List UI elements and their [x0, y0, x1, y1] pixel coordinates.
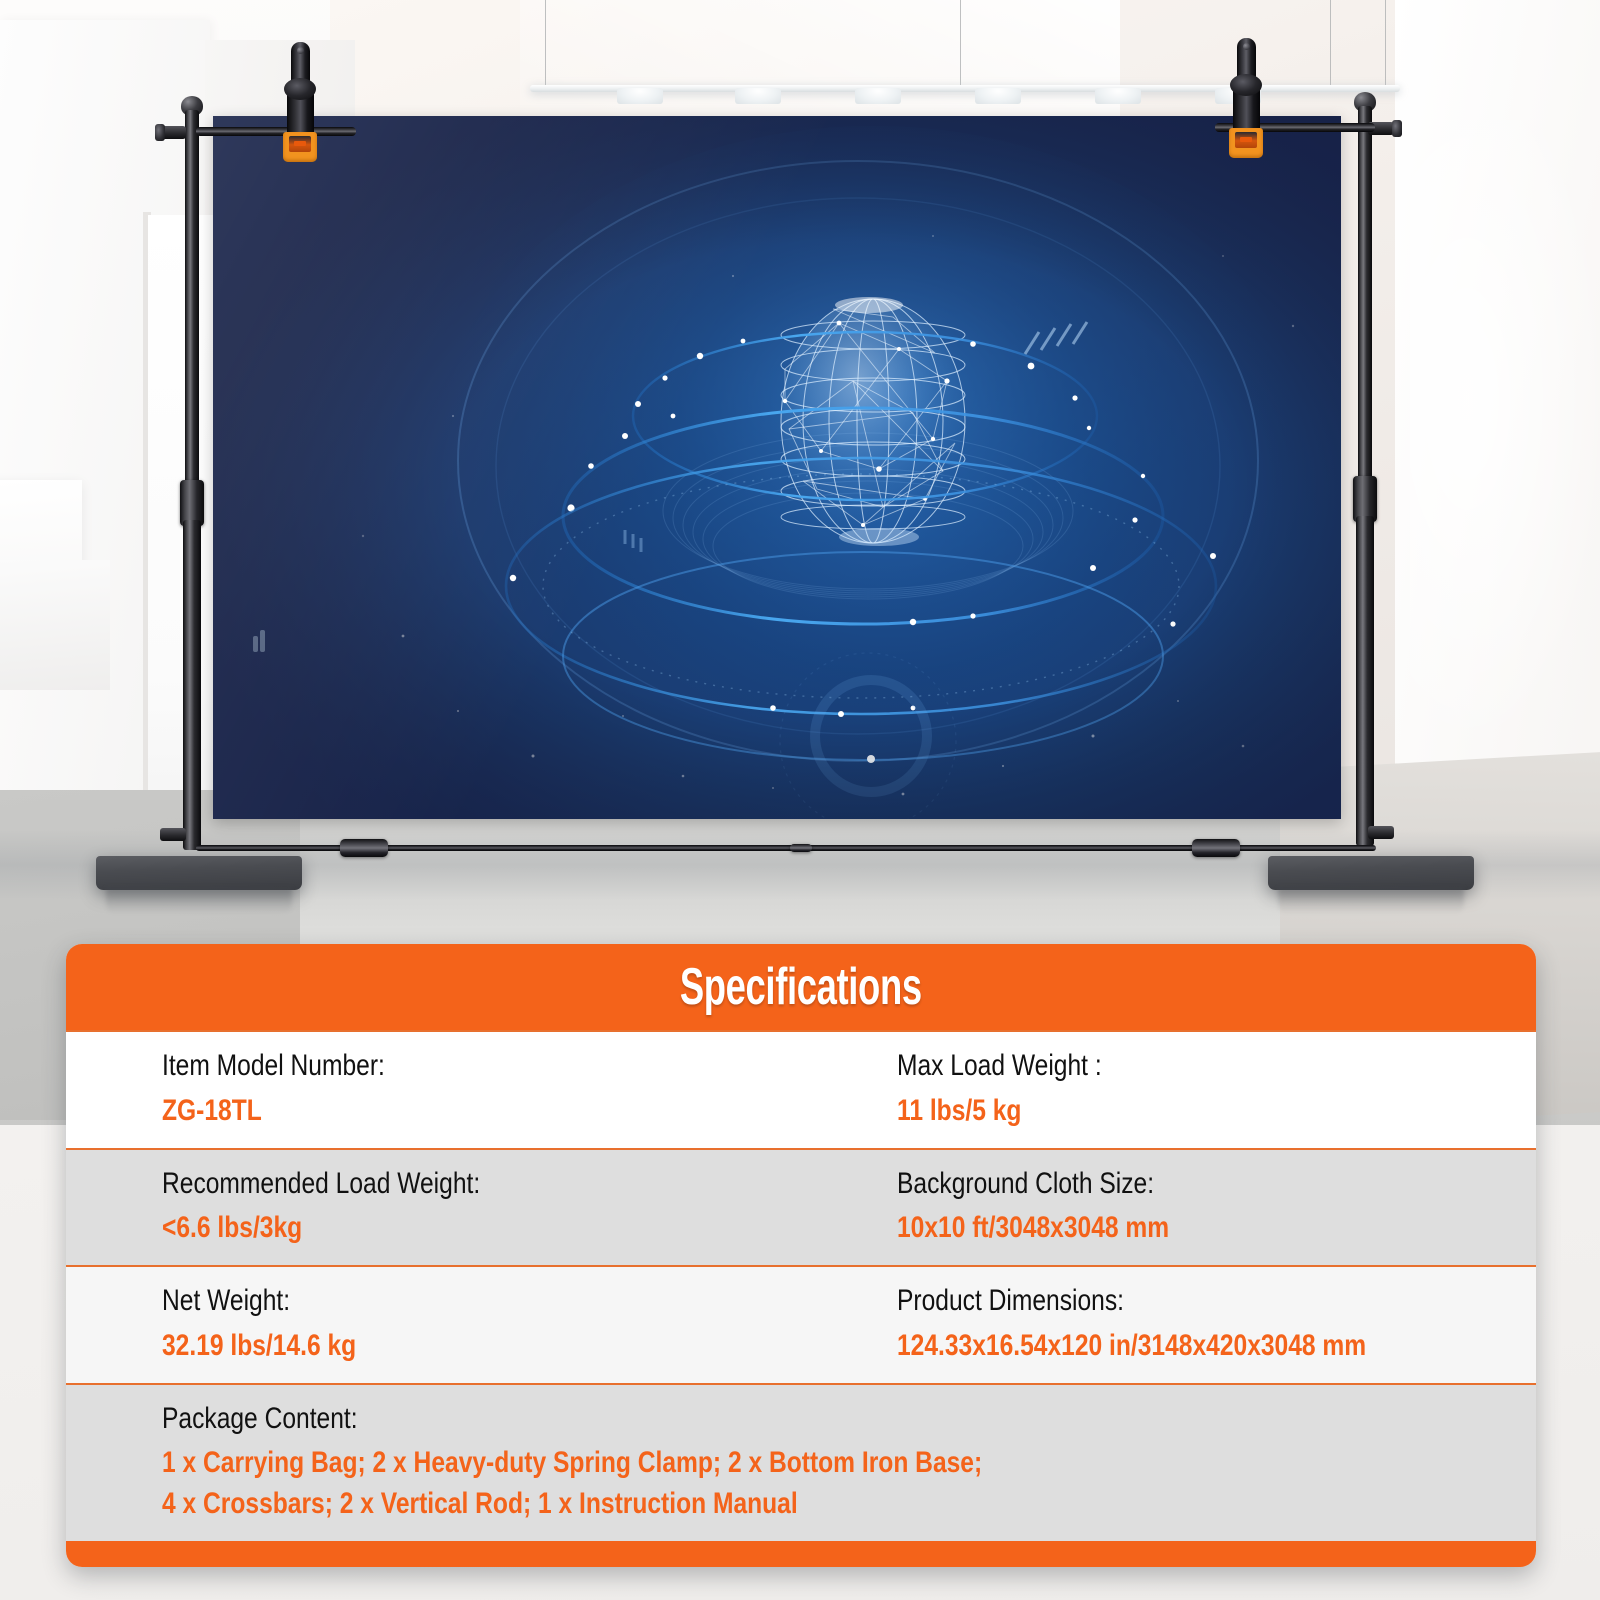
spec-label: Product Dimensions: — [897, 1283, 1421, 1320]
right-pole-upper — [1358, 106, 1372, 486]
left-pole-lower — [183, 520, 201, 850]
spec-value: 1 x Carrying Bag; 2 x Heavy-duty Spring … — [162, 1443, 1289, 1482]
clamp-pivot — [1230, 74, 1262, 96]
spec-cell: Product Dimensions: 124.33x16.54x120 in/… — [801, 1267, 1536, 1383]
bottom-crossbar-collar-right — [1192, 839, 1240, 857]
pendant-lamp — [855, 88, 901, 104]
spec-cell: Item Model Number: ZG-18TL — [66, 1032, 801, 1148]
spec-value: ZG-18TL — [162, 1091, 686, 1130]
right-pole-mid — [1356, 516, 1374, 846]
clamp-screw — [1243, 43, 1250, 50]
bottom-crossbar-collar-left — [340, 839, 388, 857]
specifications-footer — [66, 1541, 1536, 1567]
right-pole-bottom-knob — [1368, 826, 1394, 839]
spec-row: Recommended Load Weight: <6.6 lbs/3kg Ba… — [66, 1148, 1536, 1266]
spec-row: Package Content: 1 x Carrying Bag; 2 x H… — [66, 1383, 1536, 1542]
spec-label: Max Load Weight : — [897, 1048, 1421, 1085]
left-base-reflection — [106, 888, 292, 914]
spec-cell: Net Weight: 32.19 lbs/14.6 kg — [66, 1267, 801, 1383]
pendant-lamp — [1095, 88, 1141, 104]
right-iron-base — [1268, 856, 1474, 890]
spring-clamp-right — [1229, 38, 1263, 164]
spring-clamp-left — [283, 42, 317, 168]
spec-label: Background Cloth Size: — [897, 1166, 1421, 1203]
spec-label: Item Model Number: — [162, 1048, 686, 1085]
clamp-pivot — [284, 78, 316, 100]
pendant-cable — [1330, 0, 1331, 88]
pendant-cable — [1385, 0, 1386, 88]
spec-value-line2: 4 x Crossbars; 2 x Vertical Rod; 1 x Ins… — [162, 1484, 1289, 1523]
right-wall-highlight — [1410, 120, 1600, 740]
spec-value: 32.19 lbs/14.6 kg — [162, 1326, 686, 1365]
left-pole-bottom-knob — [160, 828, 186, 841]
gallery-bench — [0, 560, 110, 690]
spec-label: Net Weight: — [162, 1283, 686, 1320]
spec-row: Item Model Number: ZG-18TL Max Load Weig… — [66, 1030, 1536, 1148]
clamp-screw — [297, 47, 304, 54]
pendant-lamp — [735, 88, 781, 104]
clamp-jaw-slot — [294, 141, 306, 146]
left-pole-knob-cap — [155, 124, 165, 141]
left-pole-upper — [185, 110, 199, 490]
spec-cell: Background Cloth Size: 10x10 ft/3048x304… — [801, 1150, 1536, 1266]
spec-value: 10x10 ft/3048x3048 mm — [897, 1208, 1421, 1247]
pendant-cable — [960, 0, 961, 88]
spec-value: 11 lbs/5 kg — [897, 1091, 1421, 1130]
spec-cell: Max Load Weight : 11 lbs/5 kg — [801, 1032, 1536, 1148]
spec-row: Net Weight: 32.19 lbs/14.6 kg Product Di… — [66, 1265, 1536, 1383]
spec-cell: Package Content: 1 x Carrying Bag; 2 x H… — [66, 1385, 1536, 1542]
top-crossbar-left — [196, 127, 356, 136]
clamp-jaw-slot — [1240, 137, 1252, 142]
backdrop-cloth — [213, 116, 1341, 819]
page-title: Specifications — [680, 957, 922, 1017]
specifications-header: Specifications — [66, 944, 1536, 1030]
right-base-reflection — [1278, 888, 1464, 914]
spec-label: Package Content: — [162, 1401, 1289, 1438]
spec-label: Recommended Load Weight: — [162, 1166, 686, 1203]
pendant-lamp — [617, 88, 663, 104]
spec-cell: Recommended Load Weight: <6.6 lbs/3kg — [66, 1150, 801, 1266]
spec-value: 124.33x16.54x120 in/3148x420x3048 mm — [897, 1326, 1421, 1365]
pendant-lamp — [975, 88, 1021, 104]
spec-value: <6.6 lbs/3kg — [162, 1208, 686, 1247]
bottom-crossbar-center-joint — [790, 844, 812, 852]
right-pole-knob-cap — [1392, 120, 1402, 137]
cloth-sheen — [213, 116, 1341, 819]
left-iron-base — [96, 856, 302, 890]
pendant-cable — [545, 0, 546, 88]
specifications-panel: Specifications Item Model Number: ZG-18T… — [66, 944, 1536, 1567]
